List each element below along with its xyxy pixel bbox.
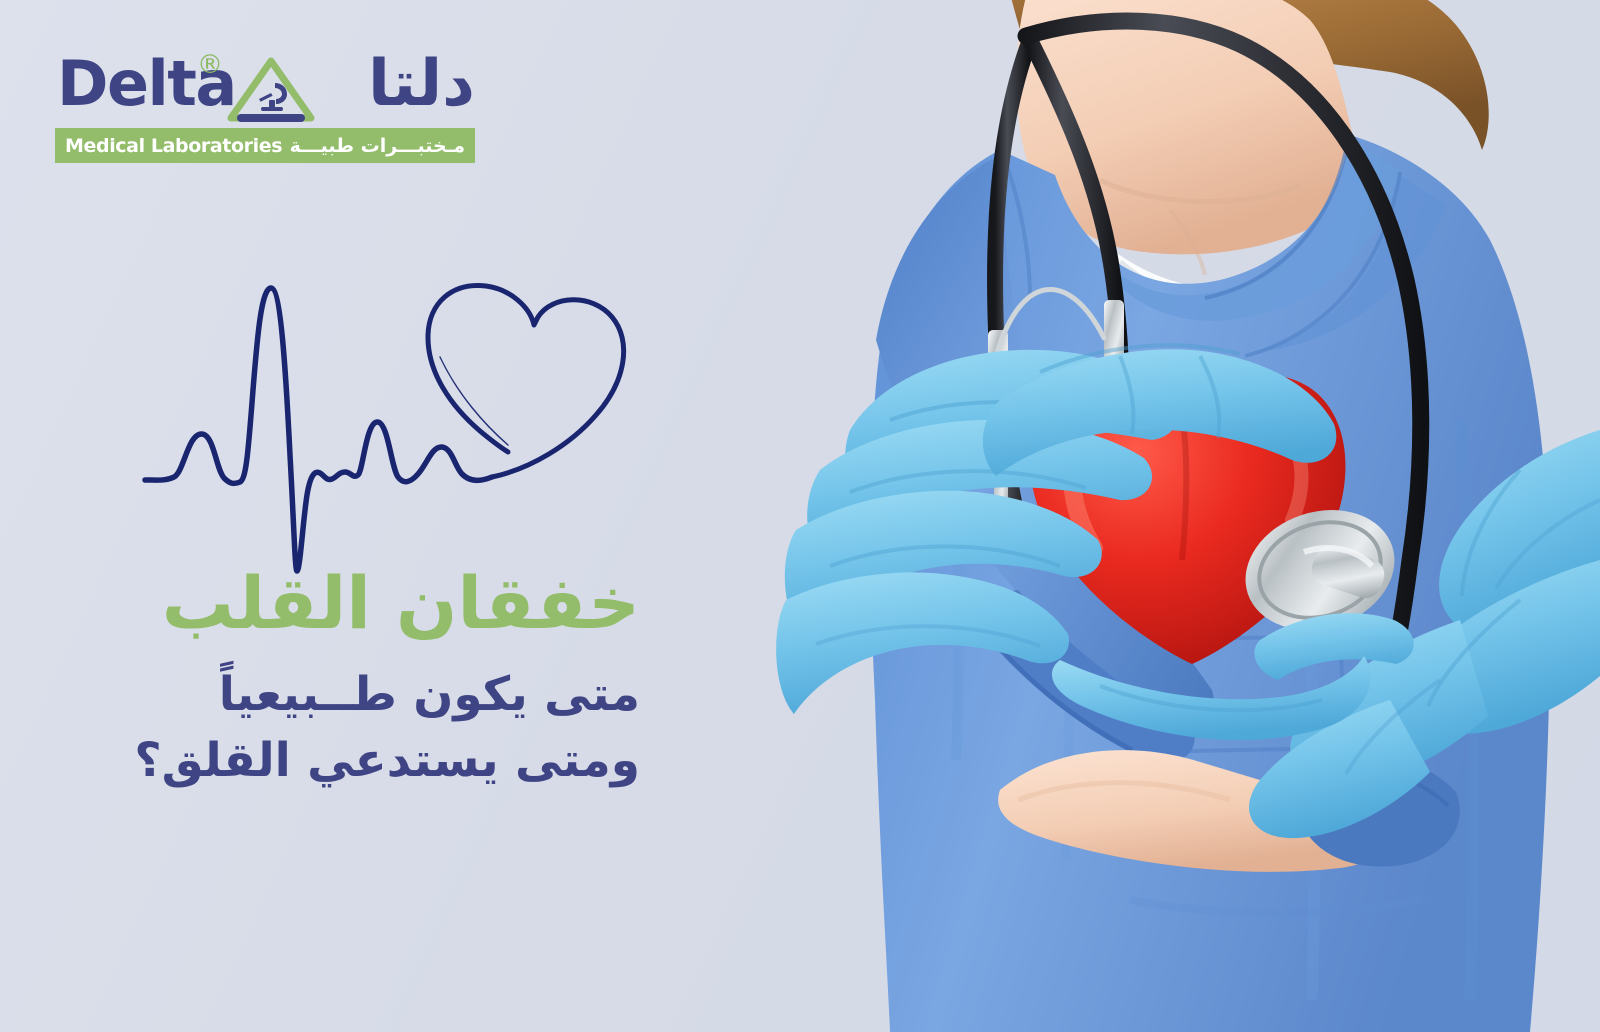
ecg-waveform-path [145, 288, 492, 571]
logo-tagline-arabic: مـختبـــرات طبيـــة [290, 135, 465, 157]
subtitle-line-1: متى يكون طــبيعياً [80, 662, 640, 728]
poster-canvas: Delta ® دلتا Medical Laboratories مـختبـ… [0, 0, 1600, 1032]
registered-trademark-icon: ® [197, 52, 223, 78]
nurse-holding-heart-photo [700, 0, 1600, 1032]
microscope-in-triangle-icon [225, 56, 317, 126]
logo-arabic-name: دلتا [368, 46, 475, 122]
headline-block: خفقان القلب متى يكون طــبيعياً ومتى يستد… [80, 560, 640, 794]
ecg-heartbeat-heart-icon [140, 255, 640, 595]
page-title: خفقان القلب [80, 560, 640, 646]
logo-wordmark-row: Delta ® دلتا [55, 48, 475, 126]
delta-logo[interactable]: Delta ® دلتا Medical Laboratories مـختبـ… [55, 48, 475, 168]
logo-tagline-latin: Medical Laboratories [65, 135, 282, 157]
logo-tagline-bar: Medical Laboratories مـختبـــرات طبيـــة [55, 128, 475, 163]
subtitle-line-2: ومتى يستدعي القلق؟ [80, 728, 640, 794]
heart-outline-path [428, 286, 624, 477]
